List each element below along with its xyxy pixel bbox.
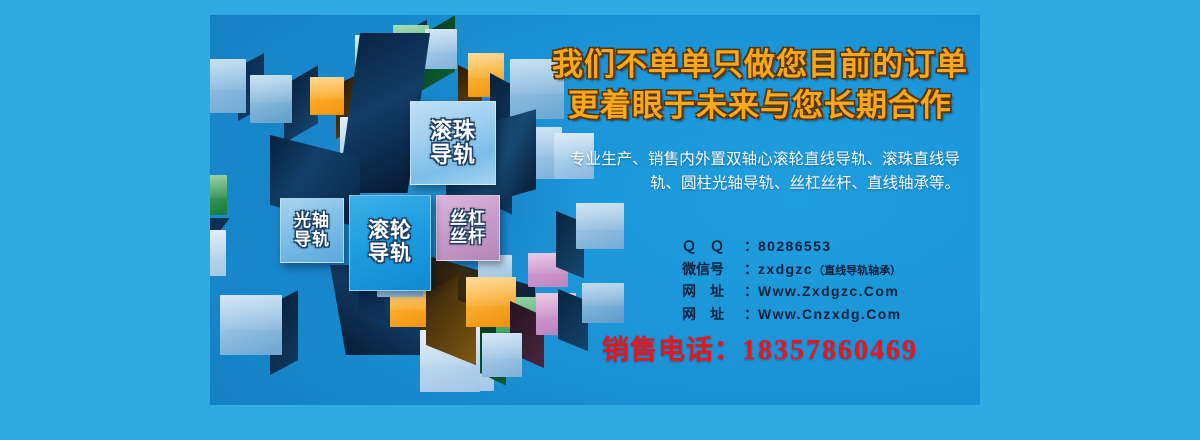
decor-cube xyxy=(310,77,344,115)
decor-cube xyxy=(250,75,292,123)
contact-row-website-1: 网 址 ： Www.Zxdgzc.Com xyxy=(682,280,980,303)
product-box-line2: 导轨 xyxy=(430,143,476,167)
contact-separator: ： xyxy=(744,235,758,258)
decor-cube xyxy=(210,59,246,113)
contact-label: 网 址 xyxy=(682,280,744,303)
product-box-line2: 导轨 xyxy=(294,231,330,249)
contact-block: Ｑ Ｑ ： 80286553 微信号 ： zxdgzc （直线导轨轴承） 网 址… xyxy=(682,235,980,326)
decor-cube xyxy=(220,295,282,355)
contact-separator: ： xyxy=(744,258,758,281)
contact-label: Ｑ Ｑ xyxy=(682,235,744,258)
product-box-gunzhu-daogui[interactable]: 滚珠 导轨 xyxy=(410,101,496,185)
product-box-line2: 导轨 xyxy=(368,243,412,266)
contact-row-wechat: 微信号 ： zxdgzc （直线导轨轴承） xyxy=(682,258,980,281)
product-box-guangzhou-daogui[interactable]: 光轴 导轨 xyxy=(280,198,344,263)
decor-cube xyxy=(210,175,227,215)
banner-stage: 滚珠 导轨 光轴 导轨 丝杠 丝杆 滚轮 导轨 我们不单单只做您目前的订单 更着… xyxy=(0,0,1200,440)
sales-phone[interactable]: 销售电话：18357860469 xyxy=(540,328,980,367)
marketing-text-column: 我们不单单只做您目前的订单 更着眼于未来与您长期合作 专业生产、销售内外置双轴心… xyxy=(540,15,980,405)
sales-phone-label: 销售电话： xyxy=(602,335,742,365)
product-box-line2: 丝杆 xyxy=(450,228,486,246)
contact-value[interactable]: Www.Zxdgzc.Com xyxy=(758,280,899,303)
product-description: 专业生产、销售内外置双轴心滚轮直线导轨、滚珠直线导轨、圆柱光轴导轨、丝杠丝杆、直… xyxy=(570,148,960,197)
contact-value[interactable]: 80286553 xyxy=(758,235,832,258)
headline-line-2: 更着眼于未来与您长期合作 xyxy=(540,86,980,127)
headline-line-1: 我们不单单只做您目前的订单 xyxy=(540,45,980,86)
contact-row-website-2: 网 址 ： Www.Cnzxdg.Com xyxy=(682,303,980,326)
contact-label: 微信号 xyxy=(682,258,744,281)
banner-panel: 滚珠 导轨 光轴 导轨 丝杠 丝杆 滚轮 导轨 我们不单单只做您目前的订单 更着… xyxy=(210,15,980,405)
contact-note: （直线导轨轴承） xyxy=(813,263,901,281)
product-box-line1: 光轴 xyxy=(294,212,330,230)
contact-row-qq: Ｑ Ｑ ： 80286553 xyxy=(682,235,980,258)
product-box-line1: 丝杠 xyxy=(450,210,486,228)
product-box-line1: 滚珠 xyxy=(430,119,476,143)
contact-label: 网 址 xyxy=(682,303,744,326)
contact-separator: ： xyxy=(744,280,758,303)
decor-cube xyxy=(466,277,516,327)
headline: 我们不单单只做您目前的订单 更着眼于未来与您长期合作 xyxy=(540,45,980,127)
contact-separator: ： xyxy=(744,303,758,326)
contact-value[interactable]: zxdgzc xyxy=(758,258,813,281)
product-box-gunlun-daogui[interactable]: 滚轮 导轨 xyxy=(349,195,431,291)
decor-cube xyxy=(482,333,522,377)
contact-value[interactable]: Www.Cnzxdg.Com xyxy=(758,303,902,326)
decor-cube xyxy=(210,230,226,276)
sales-phone-number[interactable]: 18357860469 xyxy=(742,335,918,366)
decor-wedge xyxy=(270,135,360,205)
product-box-sigang-sigan[interactable]: 丝杠 丝杆 xyxy=(436,195,500,261)
product-box-line1: 滚轮 xyxy=(368,220,412,243)
